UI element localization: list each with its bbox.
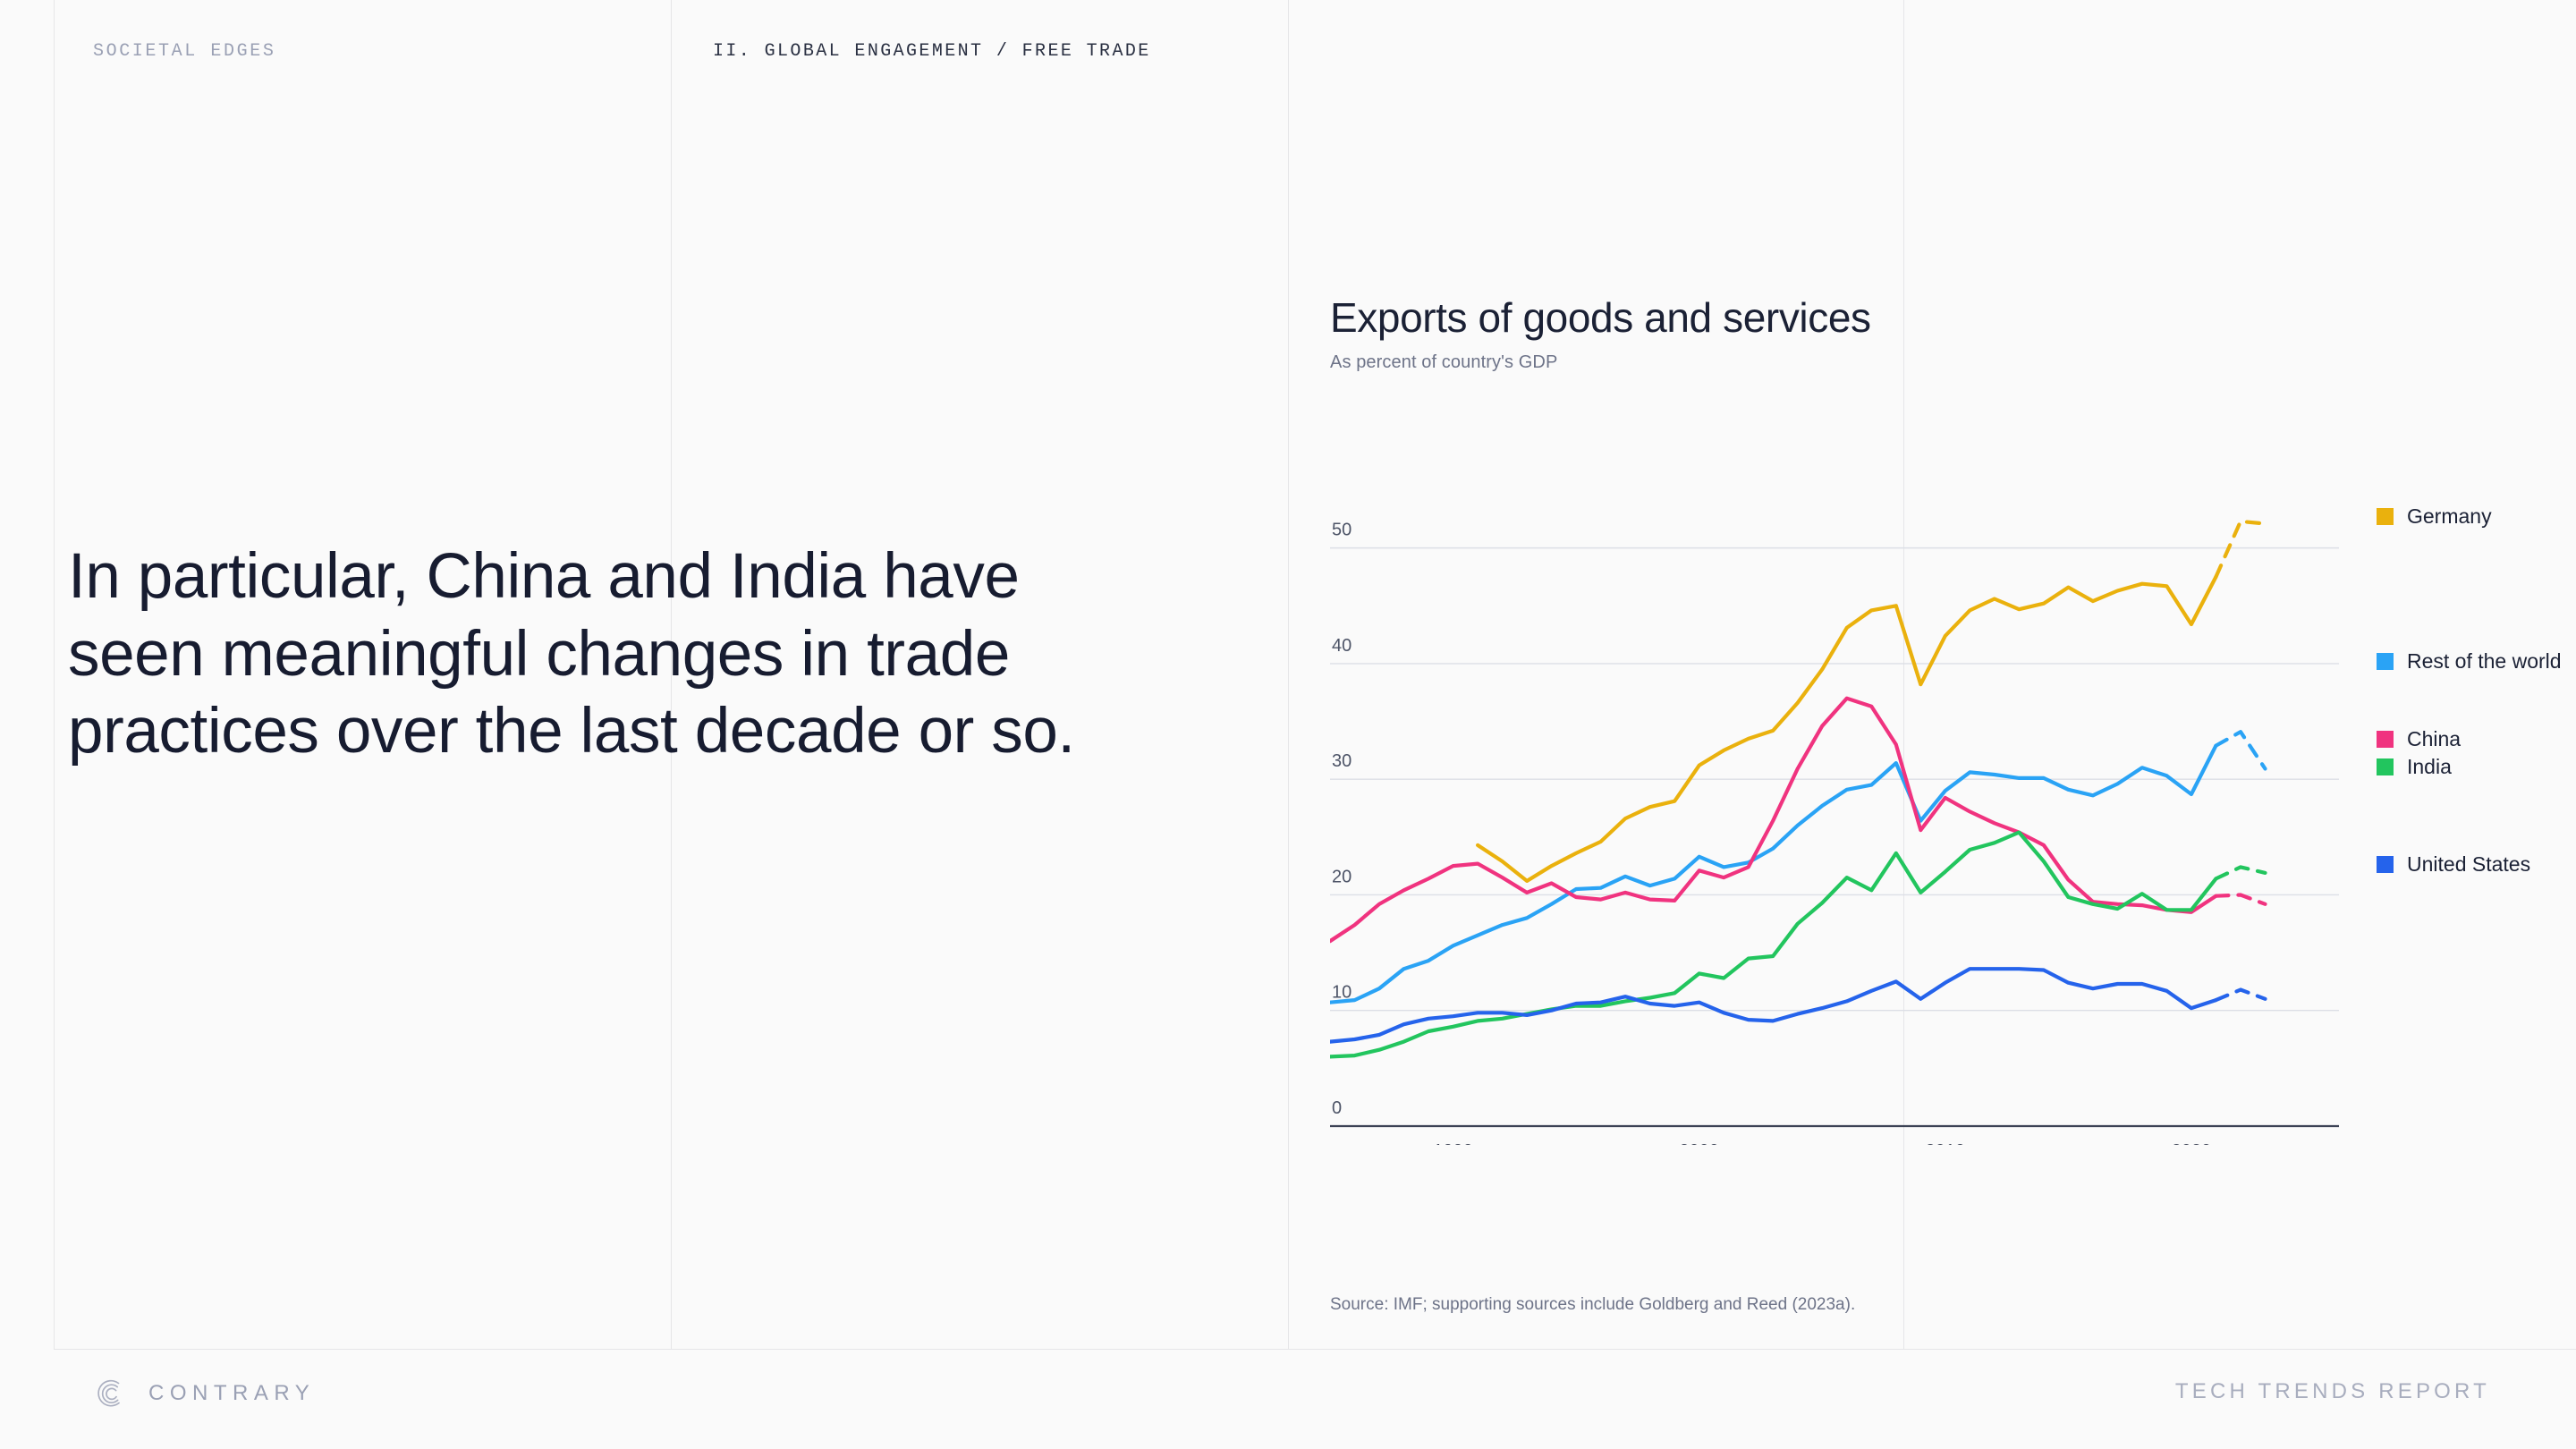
legend-label: India [2407, 755, 2452, 779]
footer-brand: CONTRARY [93, 1376, 315, 1411]
divider-left [54, 0, 55, 1349]
series-forecast-united-states [2216, 990, 2265, 1001]
chart-subtitle: As percent of country's GDP [1330, 352, 2529, 373]
eyebrow-section: SOCIETAL EDGES [93, 41, 275, 62]
legend-label: Rest of the world [2407, 649, 2562, 674]
series-line-germany [1478, 577, 2216, 881]
y-axis-tick: 20 [1332, 867, 1352, 886]
legend-swatch-icon [2377, 856, 2394, 873]
chart-source: Source: IMF; supporting sources include … [1330, 1295, 1855, 1315]
legend-item-china[interactable]: China [2377, 727, 2461, 751]
line-chart: 102030405001990200020102020 [1330, 465, 2538, 1145]
series-line-china [1330, 699, 2216, 941]
divider-footer [54, 1349, 2576, 1350]
x-axis-tick: 2000 [1679, 1141, 1719, 1145]
y-axis-tick: 0 [1332, 1098, 1342, 1118]
legend-swatch-icon [2377, 758, 2394, 775]
legend-swatch-icon [2377, 508, 2394, 525]
series-forecast-rest-of-the-world [2216, 732, 2265, 768]
series-forecast-germany [2216, 521, 2265, 577]
y-axis-tick: 30 [1332, 751, 1352, 771]
slide-root: SOCIETAL EDGES II. GLOBAL ENGAGEMENT / F… [0, 0, 2576, 1449]
legend-item-rest-of-the-world[interactable]: Rest of the world [2377, 649, 2562, 674]
legend-item-india[interactable]: India [2377, 755, 2452, 779]
chart-canvas: 102030405001990200020102020 [1330, 465, 2538, 1145]
series-forecast-india [2216, 867, 2265, 878]
legend-label: United States [2407, 852, 2530, 877]
y-axis-tick: 50 [1332, 521, 1352, 540]
brand-name: CONTRARY [148, 1381, 315, 1406]
legend-label: China [2407, 727, 2461, 751]
series-line-rest-of-the-world [1330, 746, 2216, 1003]
legend-item-germany[interactable]: Germany [2377, 504, 2492, 529]
x-axis-tick: 2020 [2172, 1141, 2212, 1145]
legend-label: Germany [2407, 504, 2492, 529]
eyebrow-chapter: II. GLOBAL ENGAGEMENT / FREE TRADE [713, 41, 1151, 62]
legend-item-united-states[interactable]: United States [2377, 852, 2530, 877]
legend-swatch-icon [2377, 653, 2394, 670]
divider-right [1288, 0, 1289, 1349]
x-axis-tick: 1990 [1433, 1141, 1473, 1145]
x-axis-tick: 2010 [1926, 1141, 1966, 1145]
lede-paragraph: In particular, China and India have seen… [68, 538, 1097, 771]
series-forecast-china [2216, 895, 2265, 904]
chart-title: Exports of goods and services [1330, 295, 2529, 341]
footer-report: TECH TRENDS REPORT [2175, 1379, 2490, 1404]
contrary-spiral-icon [93, 1376, 129, 1411]
legend-swatch-icon [2377, 731, 2394, 748]
chart-header: Exports of goods and services As percent… [1330, 295, 2529, 373]
series-line-united-states [1330, 969, 2216, 1041]
y-axis-tick: 40 [1332, 636, 1352, 656]
